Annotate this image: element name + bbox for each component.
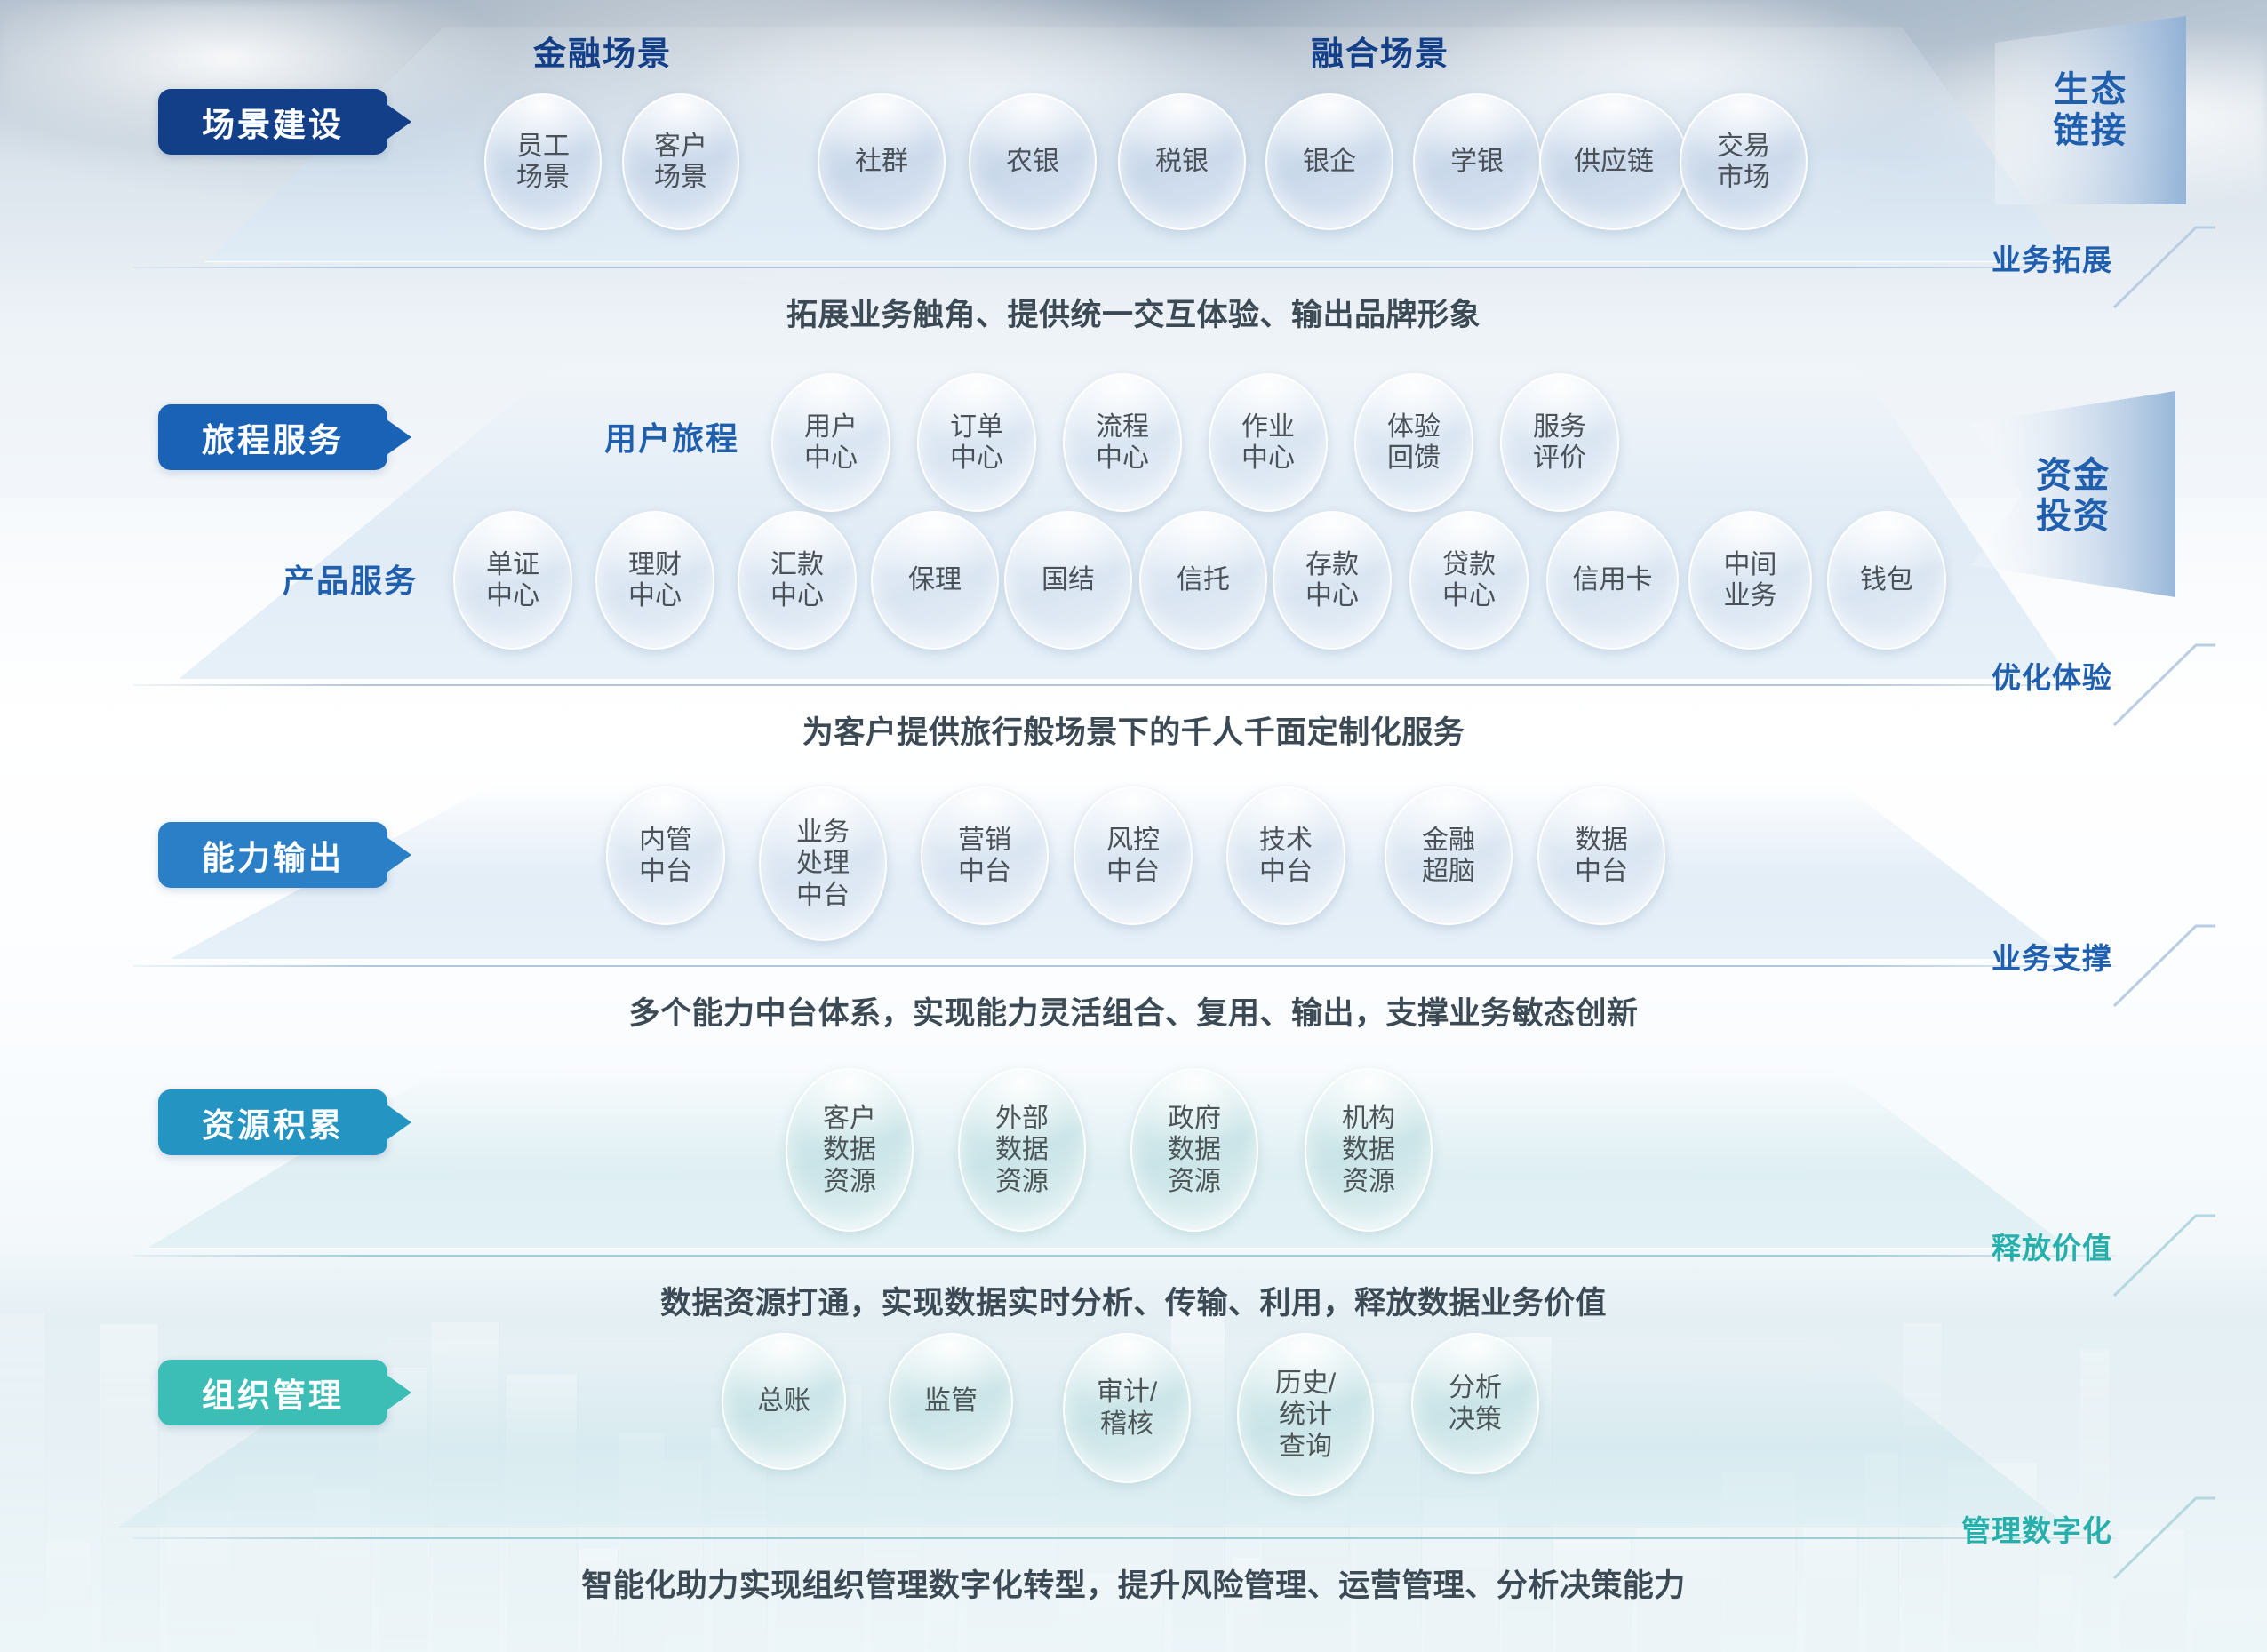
capability-node-2[interactable]: 业务处理中台 xyxy=(759,786,887,941)
divider-rule xyxy=(133,1255,2116,1257)
divider-rule xyxy=(133,1537,2116,1539)
product-node-8[interactable]: 贷款中心 xyxy=(1409,511,1529,650)
product-node-11[interactable]: 钱包 xyxy=(1827,511,1946,650)
product-node-label-6: 信托 xyxy=(1173,564,1233,595)
scene-financial-node-2[interactable]: 客户场景 xyxy=(622,93,739,230)
scene-fusion-node-3[interactable]: 税银 xyxy=(1118,93,1246,230)
journey-node-label-5: 体验回馈 xyxy=(1384,411,1444,475)
capability-node-label-3: 营销中台 xyxy=(954,825,1015,888)
badge-resource-accumulation-label: 资源积累 xyxy=(202,1098,344,1146)
scene-fusion-node-label-2: 农银 xyxy=(1002,146,1063,177)
resource-node-label-1: 客户数据资源 xyxy=(819,1103,880,1197)
scene-fusion-node-label-4: 银企 xyxy=(1299,146,1360,177)
product-node-label-3: 汇款中心 xyxy=(767,549,827,612)
badge-journey-service[interactable]: 旅程服务 xyxy=(158,404,387,470)
divider-tag-business-support: 业务支撑 xyxy=(1992,935,2112,978)
product-node-2[interactable]: 理财中心 xyxy=(595,511,714,650)
product-node-label-10: 中间业务 xyxy=(1720,549,1781,612)
badge-resource-accumulation[interactable]: 资源积累 xyxy=(158,1089,387,1155)
divider-tag-management-digitalization: 管理数字化 xyxy=(1961,1507,2112,1550)
right-banner-ecosystem-line2: 链接 xyxy=(1995,110,2186,151)
journey-node-label-1: 用户中心 xyxy=(801,411,861,475)
capability-node-3[interactable]: 营销中台 xyxy=(921,786,1049,925)
row-label-user-journey: 用户旅程 xyxy=(604,413,739,459)
product-node-3[interactable]: 汇款中心 xyxy=(738,511,857,650)
capability-node-7[interactable]: 数据中台 xyxy=(1537,786,1665,925)
capability-node-4[interactable]: 风控中台 xyxy=(1074,786,1193,925)
badge-organization-management[interactable]: 组织管理 xyxy=(158,1360,387,1425)
badge-organization-management-label: 组织管理 xyxy=(202,1369,344,1417)
divider-rule xyxy=(133,684,2116,686)
product-node-6[interactable]: 信托 xyxy=(1139,511,1267,650)
journey-node-2[interactable]: 订单中心 xyxy=(917,373,1036,512)
organization-node-3[interactable]: 审计/稽核 xyxy=(1063,1333,1191,1483)
badge-scene-construction-label: 场景建设 xyxy=(202,98,344,146)
resource-node-1[interactable]: 客户数据资源 xyxy=(786,1068,914,1232)
product-node-7[interactable]: 存款中心 xyxy=(1273,511,1392,650)
divider-tag-release-value: 释放价值 xyxy=(1992,1225,2112,1267)
resource-node-2[interactable]: 外部数据资源 xyxy=(958,1068,1086,1232)
capability-node-label-2: 业务处理中台 xyxy=(793,817,853,911)
scene-fusion-node-1[interactable]: 社群 xyxy=(818,93,946,230)
scene-fusion-node-7[interactable]: 交易市场 xyxy=(1680,93,1808,230)
divider-tag-business-expansion: 业务拓展 xyxy=(1992,236,2112,279)
journey-node-label-2: 订单中心 xyxy=(946,411,1007,475)
journey-node-label-3: 流程中心 xyxy=(1092,411,1153,475)
badge-capability-output-label: 能力输出 xyxy=(202,831,344,879)
scene-fusion-node-label-1: 社群 xyxy=(851,146,912,177)
caption-journey: 为客户提供旅行般场景下的千人千面定制化服务 xyxy=(0,707,2267,753)
organization-node-label-1: 总账 xyxy=(754,1385,814,1417)
row-label-product-service: 产品服务 xyxy=(283,555,418,602)
journey-node-label-6: 服务评价 xyxy=(1529,411,1590,475)
scene-fusion-node-2[interactable]: 农银 xyxy=(969,93,1097,230)
badge-scene-construction[interactable]: 场景建设 xyxy=(158,89,387,155)
product-node-1[interactable]: 单证中心 xyxy=(453,511,572,650)
product-node-label-11: 钱包 xyxy=(1856,564,1917,595)
capability-node-label-6: 金融超脑 xyxy=(1418,825,1479,888)
resource-node-3[interactable]: 政府数据资源 xyxy=(1130,1068,1258,1232)
capability-node-label-5: 技术中台 xyxy=(1256,825,1316,888)
resource-node-label-3: 政府数据资源 xyxy=(1164,1103,1225,1197)
right-banner-ecosystem: 生态 链接 xyxy=(1995,16,2186,204)
journey-node-4[interactable]: 作业中心 xyxy=(1209,373,1328,512)
organization-node-5[interactable]: 分析决策 xyxy=(1411,1333,1539,1474)
journey-node-6[interactable]: 服务评价 xyxy=(1500,373,1619,512)
product-node-label-2: 理财中心 xyxy=(625,549,685,612)
capability-node-label-7: 数据中台 xyxy=(1571,825,1632,888)
product-node-label-8: 贷款中心 xyxy=(1439,549,1499,612)
scene-financial-node-1[interactable]: 员工场景 xyxy=(484,93,602,230)
caption-organization: 智能化助力实现组织管理数字化转型，提升风险管理、运营管理、分析决策能力 xyxy=(0,1560,2267,1606)
journey-node-5[interactable]: 体验回馈 xyxy=(1354,373,1473,512)
product-node-10[interactable]: 中间业务 xyxy=(1688,511,1812,650)
scene-financial-node-label-2: 客户场景 xyxy=(651,131,711,194)
scene-fusion-node-label-6: 供应链 xyxy=(1570,146,1657,177)
organization-node-label-5: 分析决策 xyxy=(1445,1372,1505,1435)
scene-fusion-node-label-3: 税银 xyxy=(1152,146,1212,177)
capability-node-1[interactable]: 内管中台 xyxy=(606,786,725,925)
product-node-9[interactable]: 信用卡 xyxy=(1546,511,1679,650)
right-banner-capital-line1: 资金 xyxy=(1971,455,2175,496)
scene-financial-node-label-1: 员工场景 xyxy=(513,131,573,194)
organization-node-label-4: 历史/统计查询 xyxy=(1272,1368,1339,1462)
caption-capability: 多个能力中台体系，实现能力灵活组合、复用、输出，支撑业务敏态创新 xyxy=(0,988,2267,1033)
product-node-label-9: 信用卡 xyxy=(1569,564,1656,595)
divider-tag-optimize-experience: 优化体验 xyxy=(1992,654,2112,697)
scene-fusion-node-6[interactable]: 供应链 xyxy=(1539,93,1688,230)
resource-node-4[interactable]: 机构数据资源 xyxy=(1305,1068,1433,1232)
right-banner-ecosystem-line1: 生态 xyxy=(1995,69,2186,110)
organization-node-2[interactable]: 监管 xyxy=(889,1333,1013,1470)
product-node-label-4: 保理 xyxy=(905,564,965,595)
journey-node-3[interactable]: 流程中心 xyxy=(1063,373,1182,512)
scene-fusion-node-5[interactable]: 学银 xyxy=(1413,93,1541,230)
group-label-fusion-scene: 融合场景 xyxy=(1311,27,1449,75)
product-node-4[interactable]: 保理 xyxy=(871,511,999,650)
capability-node-6[interactable]: 金融超脑 xyxy=(1385,786,1513,925)
product-node-5[interactable]: 国结 xyxy=(1004,511,1132,650)
divider-rule xyxy=(133,965,2116,967)
right-banner-capital-line2: 投资 xyxy=(1971,496,2175,537)
badge-capability-output[interactable]: 能力输出 xyxy=(158,822,387,888)
scene-fusion-node-label-7: 交易市场 xyxy=(1713,131,1774,194)
capability-node-label-1: 内管中台 xyxy=(635,825,696,888)
resource-node-label-2: 外部数据资源 xyxy=(992,1103,1052,1197)
product-node-label-1: 单证中心 xyxy=(483,549,543,612)
scene-fusion-node-4[interactable]: 银企 xyxy=(1265,93,1393,230)
product-node-label-5: 国结 xyxy=(1038,564,1098,595)
journey-node-label-4: 作业中心 xyxy=(1238,411,1298,475)
capability-node-5[interactable]: 技术中台 xyxy=(1226,786,1345,925)
capability-node-label-4: 风控中台 xyxy=(1103,825,1163,888)
organization-node-4[interactable]: 历史/统计查询 xyxy=(1237,1333,1374,1496)
badge-journey-service-label: 旅程服务 xyxy=(202,413,344,461)
resource-node-label-4: 机构数据资源 xyxy=(1338,1103,1399,1197)
product-node-label-7: 存款中心 xyxy=(1302,549,1362,612)
caption-resource: 数据资源打通，实现数据实时分析、传输、利用，释放数据业务价值 xyxy=(0,1278,2267,1323)
scene-fusion-node-label-5: 学银 xyxy=(1447,146,1507,177)
caption-scene: 拓展业务触角、提供统一交互体验、输出品牌形象 xyxy=(0,290,2267,335)
organization-node-label-2: 监管 xyxy=(921,1385,981,1417)
group-label-financial-scene: 金融场景 xyxy=(533,27,672,75)
organization-node-label-3: 审计/稽核 xyxy=(1093,1377,1161,1440)
organization-node-1[interactable]: 总账 xyxy=(722,1333,846,1470)
journey-node-1[interactable]: 用户中心 xyxy=(771,373,890,512)
divider-rule xyxy=(133,267,2116,268)
right-banner-capital: 资金 投资 xyxy=(1971,391,2175,597)
